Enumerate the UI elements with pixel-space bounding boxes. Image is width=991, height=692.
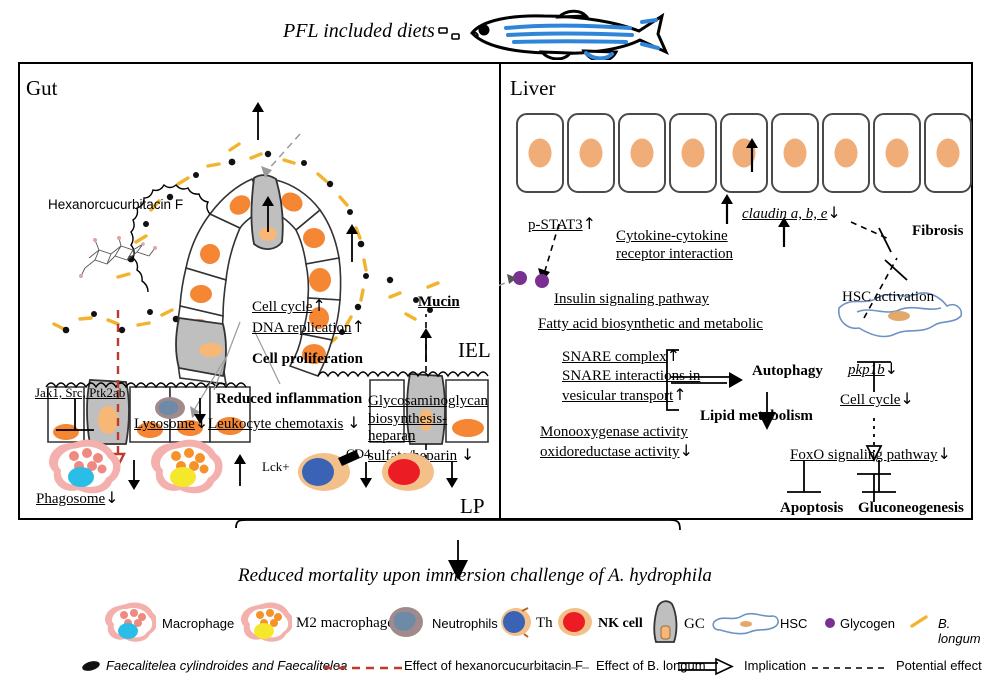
conclusion-text: Reduced mortality upon immersion challen… xyxy=(238,565,712,587)
legend-b-longum-icon xyxy=(908,612,934,632)
legend-black-dashed-line-icon xyxy=(812,664,892,672)
liver-label-insulin: Insulin signaling pathway xyxy=(554,291,709,309)
gut-label-iel: IEL xyxy=(458,338,491,363)
liver-term-autophagy: Autophagy xyxy=(752,363,823,381)
lymphocyte-group-icon xyxy=(286,440,486,500)
liver-label-claudin: claudin a, b, e↓ xyxy=(742,204,841,224)
legend-hsc-icon xyxy=(712,610,780,636)
legend-bacterium-icon xyxy=(80,658,104,674)
liver-label-fatty-acid: Fatty acid biosynthetic and metabolic xyxy=(538,316,763,334)
legend-label-faecalitelea: Faecalitelea cylindroides and Faecalitel… xyxy=(106,658,347,673)
liver-term-fibrosis: Fibrosis xyxy=(912,223,963,241)
legend-label-b-longum: B. longum xyxy=(938,616,991,646)
m2-macrophage-icon xyxy=(140,430,260,505)
hexanorcucurbitacin-label: Hexanorcucurbitacin F xyxy=(48,197,183,212)
lck-marker-label: Lck+ xyxy=(262,459,290,475)
legend-goblet-cell-icon xyxy=(650,598,684,646)
liver-label-snare-vesicular: SNARE interactions in vesicular transpor… xyxy=(562,368,714,405)
legend-th-cell-icon xyxy=(500,606,534,638)
legend-label-hsc: HSC xyxy=(780,616,807,631)
hexanorcucurbitacin-structure-icon xyxy=(75,230,165,290)
legend-label-th: Th xyxy=(536,615,553,632)
legend-glycogen-icon xyxy=(824,616,838,630)
legend-label-glycogen: Glycogen xyxy=(840,616,895,631)
legend-m2-macrophage-icon xyxy=(240,600,292,644)
legend: Macrophage M2 macrophage Neutrophils Th … xyxy=(0,596,991,692)
cd4-marker-label: CD4 xyxy=(346,446,371,462)
legend-macrophage-icon xyxy=(104,600,156,644)
liver-label-pstat3: p-STAT3↑ xyxy=(528,215,596,235)
legend-red-dashed-line-icon xyxy=(324,664,404,672)
zebrafish-icon xyxy=(434,6,684,60)
gut-label-dna-replication: DNA replication↑ xyxy=(252,318,365,338)
liver-label-monooxygenase: Monooxygenase activity oxidoreductase ac… xyxy=(540,424,712,461)
liver-label-hsc-activation: HSC activation xyxy=(842,289,934,307)
gut-label-mucin: Mucin xyxy=(418,294,460,312)
liver-label-foxo: FoxO signaling pathway↓ xyxy=(790,445,951,465)
pfl-diet-label: PFL included diets xyxy=(283,20,435,43)
legend-gray-dashed-line-icon xyxy=(522,664,592,672)
legend-label-macrophage: Macrophage xyxy=(162,616,234,631)
legend-label-neutrophils: Neutrophils xyxy=(432,616,498,631)
gut-label-cell-cycle: Cell cycle↑ xyxy=(252,297,326,317)
gut-label-reduced-inflammation: Reduced inflammation xyxy=(216,391,362,409)
liver-label-cytokine: Cytokine-cytokine receptor interaction xyxy=(616,228,776,263)
legend-label-gc: GC xyxy=(684,616,705,633)
neutrophil-icon xyxy=(152,394,212,426)
liver-label-cell-cycle: Cell cycle↓ xyxy=(840,390,914,410)
liver-term-gluconeogenesis: Gluconeogenesis xyxy=(858,500,964,518)
legend-label-potential-effect: Potential effect xyxy=(896,658,982,673)
liver-term-apoptosis: Apoptosis xyxy=(780,500,843,518)
legend-label-nk-cell: NK cell xyxy=(598,616,643,632)
legend-neutrophil-icon xyxy=(386,604,428,640)
legend-implication-icon xyxy=(676,658,738,676)
legend-label-implication: Implication xyxy=(744,658,806,673)
gut-label-cell-proliferation: Cell proliferation xyxy=(252,351,363,369)
legend-label-m2-macrophage: M2 macrophage xyxy=(296,615,394,632)
liver-term-lipid-metabolism: Lipid metabolism xyxy=(700,408,813,426)
liver-label-pkp1b: pkp1b↓ xyxy=(848,360,898,380)
legend-nk-cell-icon xyxy=(556,606,596,638)
liver-label-snare-complex: SNARE complex↑ xyxy=(562,347,680,367)
